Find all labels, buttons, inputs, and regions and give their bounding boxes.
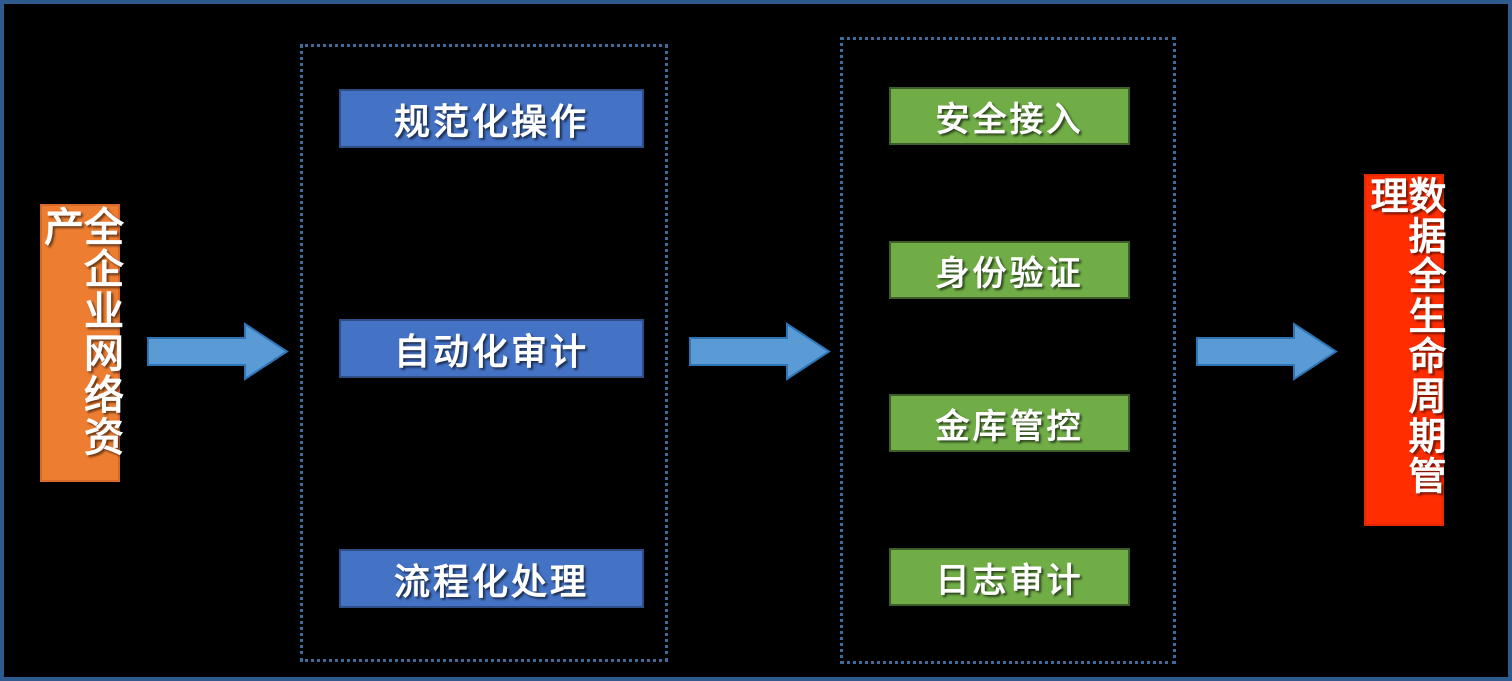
arrow-source-to-operations bbox=[147, 322, 289, 381]
group-operations: 规范化操作 自动化审计 流程化处理 bbox=[300, 44, 668, 662]
item-operations-1[interactable]: 自动化审计 bbox=[339, 319, 644, 378]
right-arrow-icon bbox=[1196, 322, 1338, 381]
source-node-enterprise-network-assets[interactable]: 全企业网络资产 bbox=[40, 204, 120, 482]
right-arrow-icon bbox=[147, 322, 289, 381]
item-operations-2[interactable]: 流程化处理 bbox=[339, 549, 644, 608]
item-security-1[interactable]: 身份验证 bbox=[889, 241, 1130, 299]
group-security: 安全接入 身份验证 金库管控 日志审计 bbox=[840, 37, 1176, 664]
item-operations-0[interactable]: 规范化操作 bbox=[339, 89, 644, 148]
diagram-canvas: 全企业网络资产 规范化操作 自动化审计 流程化处理 安全接入 身份验证 金库管控… bbox=[0, 0, 1512, 681]
arrow-security-to-outcome bbox=[1196, 322, 1338, 381]
item-security-0[interactable]: 安全接入 bbox=[889, 87, 1130, 145]
arrow-operations-to-security bbox=[689, 322, 831, 381]
item-security-2[interactable]: 金库管控 bbox=[889, 394, 1130, 452]
right-arrow-icon bbox=[689, 322, 831, 381]
item-security-3[interactable]: 日志审计 bbox=[889, 548, 1130, 606]
outcome-node-data-lifecycle-management[interactable]: 数据全生命周期管理 bbox=[1364, 174, 1444, 526]
